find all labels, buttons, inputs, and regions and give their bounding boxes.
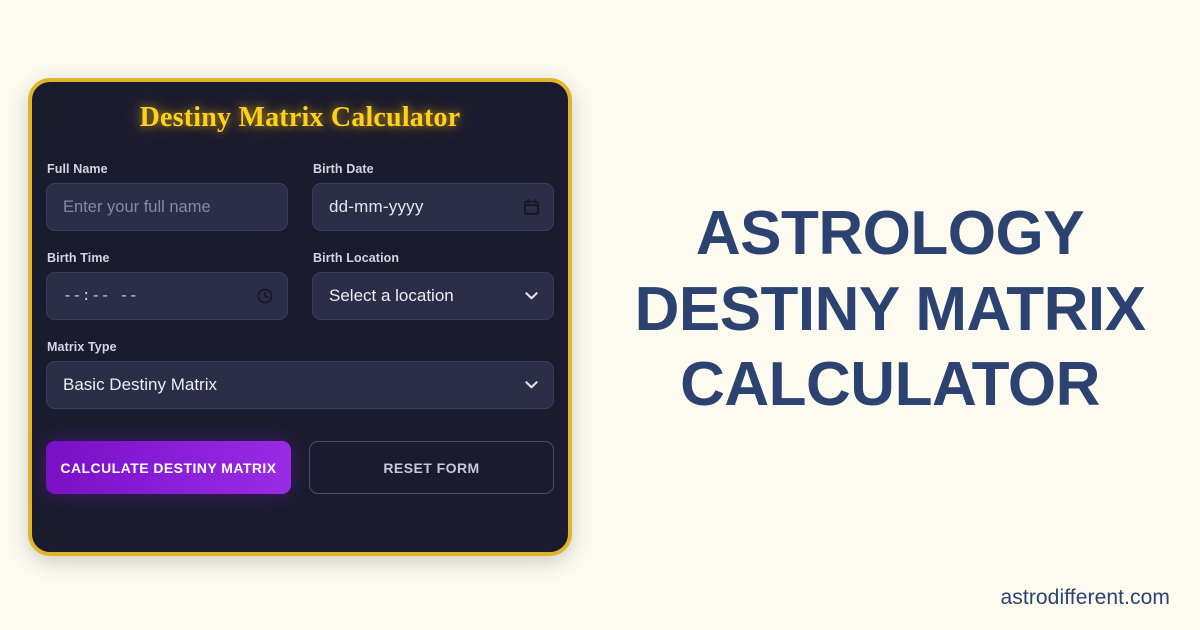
site-url: astrodifferent.com: [1001, 586, 1171, 610]
matrix-type-select[interactable]: Basic Destiny Matrix: [46, 361, 554, 409]
birth-location-label: Birth Location: [313, 251, 554, 265]
chevron-down-icon[interactable]: [525, 292, 538, 301]
matrix-type-label: Matrix Type: [47, 340, 554, 354]
reset-form-button[interactable]: RESET FORM: [309, 441, 554, 494]
clock-icon[interactable]: [257, 288, 273, 304]
card-title: Destiny Matrix Calculator: [32, 102, 568, 134]
form-row-3: Matrix Type Basic Destiny Matrix: [46, 340, 554, 421]
full-name-input[interactable]: Enter your full name: [46, 183, 288, 231]
destiny-matrix-calculator-card: Destiny Matrix Calculator Full Name Ente…: [28, 78, 572, 556]
headline-line-2: DESTINY MATRIX: [596, 272, 1184, 348]
calculate-destiny-matrix-button[interactable]: CALCULATE DESTINY MATRIX: [46, 441, 291, 494]
field-birth-time: Birth Time --:-- --: [46, 251, 288, 320]
field-birth-date: Birth Date dd-mm-yyyy: [312, 162, 554, 231]
birth-time-input[interactable]: --:-- --: [46, 272, 288, 320]
birth-date-label: Birth Date: [313, 162, 554, 176]
full-name-label: Full Name: [47, 162, 288, 176]
calendar-icon[interactable]: [524, 199, 539, 215]
calculator-form: Full Name Enter your full name Birth Dat…: [32, 162, 568, 494]
field-birth-location: Birth Location Select a location: [312, 251, 554, 320]
full-name-placeholder: Enter your full name: [63, 198, 211, 217]
birth-time-placeholder: --:-- --: [63, 288, 138, 305]
birth-date-input[interactable]: dd-mm-yyyy: [312, 183, 554, 231]
headline-line-1: ASTROLOGY: [596, 196, 1184, 272]
birth-location-value: Select a location: [329, 286, 454, 306]
field-full-name: Full Name Enter your full name: [46, 162, 288, 231]
field-matrix-type: Matrix Type Basic Destiny Matrix: [46, 340, 554, 409]
birth-location-select[interactable]: Select a location: [312, 272, 554, 320]
birth-date-placeholder: dd-mm-yyyy: [329, 197, 424, 217]
matrix-type-value: Basic Destiny Matrix: [63, 375, 217, 395]
birth-time-label: Birth Time: [47, 251, 288, 265]
chevron-down-icon[interactable]: [525, 381, 538, 390]
headline: ASTROLOGY DESTINY MATRIX CALCULATOR: [596, 196, 1184, 423]
form-actions: CALCULATE DESTINY MATRIX RESET FORM: [46, 441, 554, 494]
headline-line-3: CALCULATOR: [596, 347, 1184, 423]
form-row-2: Birth Time --:-- -- Birth Location Selec…: [46, 251, 554, 332]
form-row-1: Full Name Enter your full name Birth Dat…: [46, 162, 554, 243]
